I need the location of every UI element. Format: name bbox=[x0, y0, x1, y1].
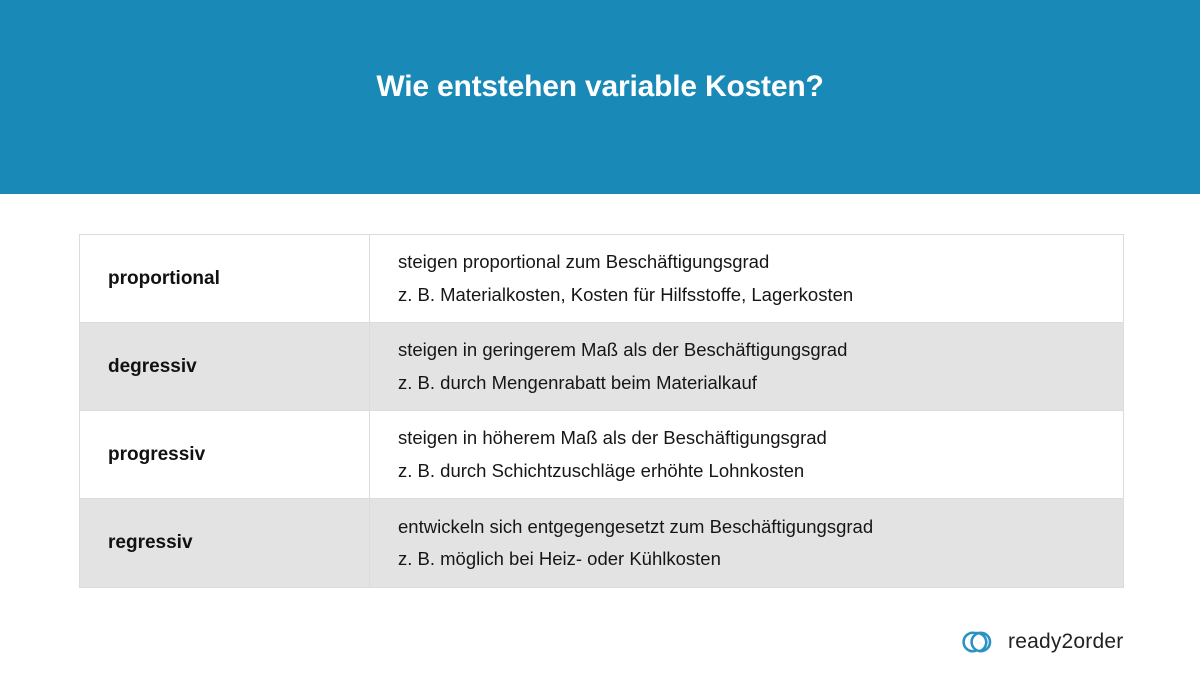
logo-wordmark: ready2order bbox=[1008, 630, 1123, 654]
description-line: z. B. durch Mengenrabatt beim Materialka… bbox=[398, 367, 1123, 400]
description-line: z. B. möglich bei Heiz- oder Kühlkosten bbox=[398, 543, 1123, 576]
brand-logo: ready2order bbox=[957, 628, 1123, 656]
description-line: steigen proportional zum Beschäftigungsg… bbox=[398, 246, 1123, 279]
row-term-progressiv: progressiv bbox=[80, 411, 370, 498]
table-row: regressiv entwickeln sich entgegengesetz… bbox=[80, 499, 1123, 587]
description-line: steigen in höherem Maß als der Beschäfti… bbox=[398, 422, 1123, 455]
table-row: progressiv steigen in höherem Maß als de… bbox=[80, 411, 1123, 499]
header-band: Wie entstehen variable Kosten? bbox=[0, 0, 1200, 194]
ready2order-rings-icon bbox=[957, 628, 999, 656]
table-row: degressiv steigen in geringerem Maß als … bbox=[80, 323, 1123, 411]
row-term-regressiv: regressiv bbox=[80, 499, 370, 587]
page-title: Wie entstehen variable Kosten? bbox=[0, 70, 1200, 104]
description-line: z. B. durch Schichtzuschläge erhöhte Loh… bbox=[398, 455, 1123, 488]
row-description: steigen in geringerem Maß als der Beschä… bbox=[370, 323, 1123, 410]
row-description: steigen proportional zum Beschäftigungsg… bbox=[370, 235, 1123, 322]
description-line: entwickeln sich entgegengesetzt zum Besc… bbox=[398, 511, 1123, 544]
description-line: z. B. Materialkosten, Kosten für Hilfsst… bbox=[398, 279, 1123, 312]
table-row: proportional steigen proportional zum Be… bbox=[80, 235, 1123, 323]
row-description: steigen in höherem Maß als der Beschäfti… bbox=[370, 411, 1123, 498]
row-description: entwickeln sich entgegengesetzt zum Besc… bbox=[370, 499, 1123, 587]
description-line: steigen in geringerem Maß als der Beschä… bbox=[398, 334, 1123, 367]
row-term-degressiv: degressiv bbox=[80, 323, 370, 410]
row-term-proportional: proportional bbox=[80, 235, 370, 322]
variable-costs-table: proportional steigen proportional zum Be… bbox=[79, 234, 1124, 588]
